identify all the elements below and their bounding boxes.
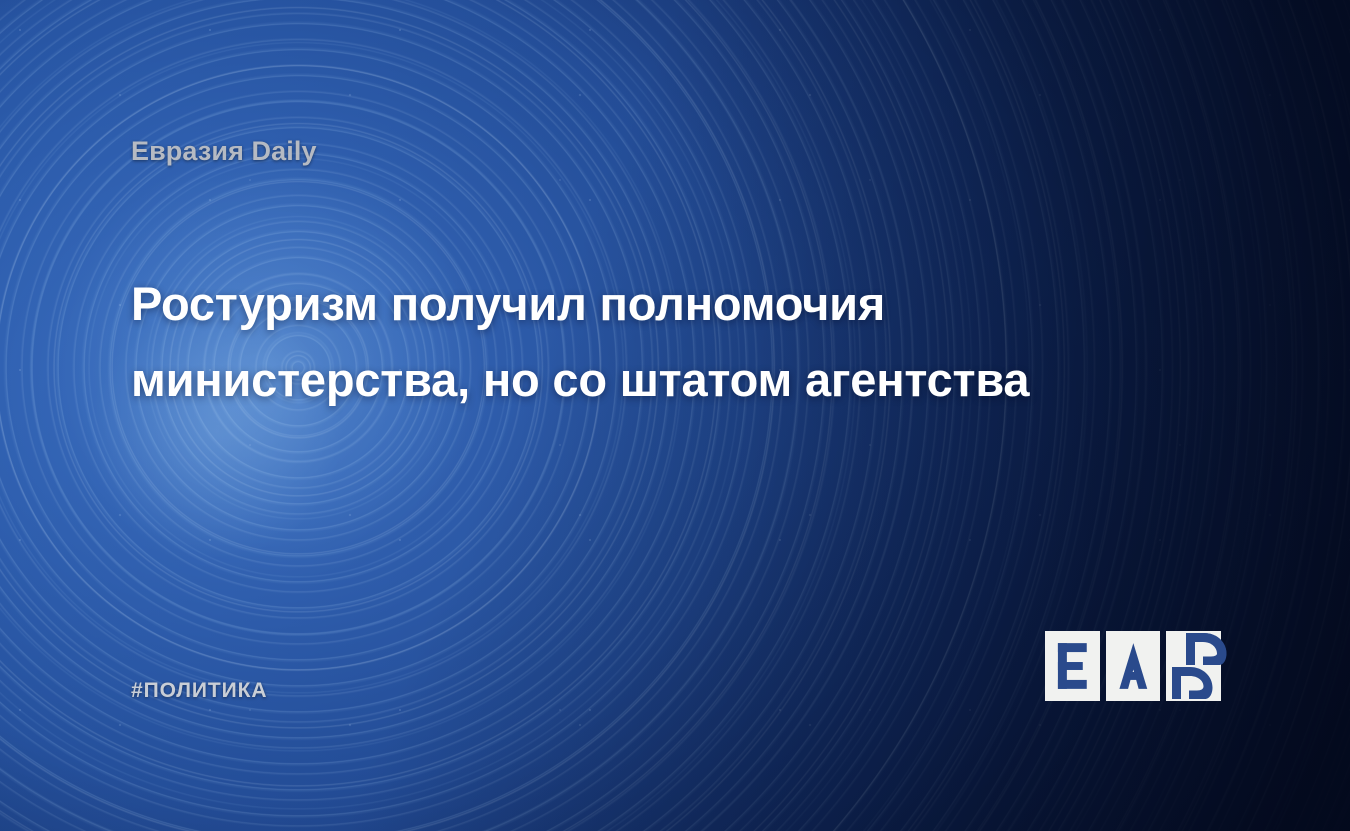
article-headline: Ростуризм получил полномочия министерств… bbox=[131, 266, 1221, 418]
logo-letter-e-icon bbox=[1045, 631, 1100, 701]
category-tag: #ПОЛИТИКА bbox=[131, 679, 267, 703]
logo-letter-d-split-icon bbox=[1166, 631, 1221, 701]
logo-letter-a-icon bbox=[1106, 631, 1161, 701]
brand-name: Евразия Daily bbox=[131, 136, 317, 167]
eadaily-logo bbox=[1045, 631, 1221, 701]
social-share-card: Евразия Daily Ростуризм получил полномоч… bbox=[0, 0, 1350, 831]
card-content: Евразия Daily Ростуризм получил полномоч… bbox=[0, 0, 1350, 831]
